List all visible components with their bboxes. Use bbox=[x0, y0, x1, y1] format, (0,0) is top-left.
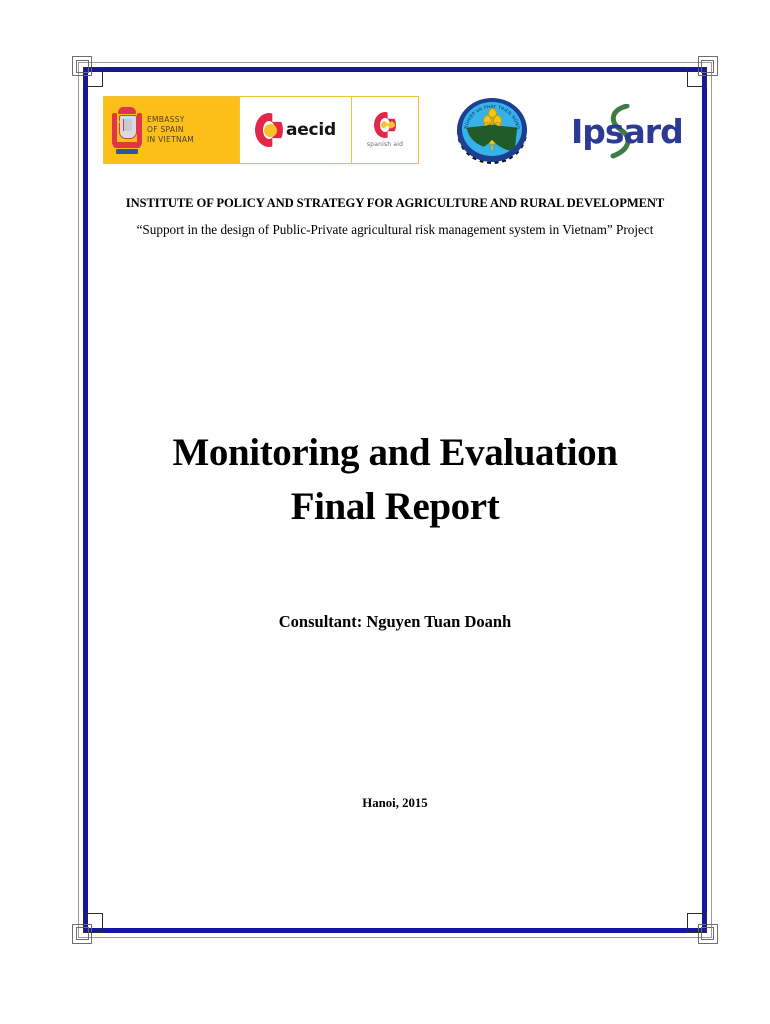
aecid-wordmark: aecid bbox=[286, 120, 336, 140]
spanish-aid-c-mark-icon bbox=[374, 112, 396, 138]
consultant-line: Consultant: Nguyen Tuan Doanh bbox=[90, 612, 700, 632]
mard-emblem: NONG NGHIEP VA PHAT TRIEN NONG THON bbox=[455, 94, 529, 166]
organization-line: INSTITUTE OF POLICY AND STRATEGY FOR AGR… bbox=[90, 196, 700, 211]
report-title-line-2: Final Report bbox=[90, 480, 700, 534]
page-frame: EMBASSY OF SPAIN IN VIETNAM aecid spanis… bbox=[78, 62, 712, 938]
project-title-line: “Support in the design of Public-Private… bbox=[90, 222, 700, 238]
spain-coat-of-arms-icon bbox=[112, 106, 142, 154]
embassy-logo-text: EMBASSY OF SPAIN IN VIETNAM bbox=[147, 115, 194, 145]
donor-logo-block: EMBASSY OF SPAIN IN VIETNAM aecid spanis… bbox=[103, 96, 419, 164]
ipsard-wordmark: Ipsard bbox=[571, 112, 683, 151]
ipsard-logo: Ipsard bbox=[571, 108, 699, 156]
embassy-of-spain-logo: EMBASSY OF SPAIN IN VIETNAM bbox=[104, 97, 239, 163]
place-year-line: Hanoi, 2015 bbox=[90, 796, 700, 811]
spanish-aid-caption: spanish aid bbox=[367, 141, 403, 148]
aecid-logo: aecid bbox=[239, 97, 351, 163]
aecid-c-mark-icon bbox=[255, 113, 283, 147]
svg-text:NONG NGHIEP VA PHAT TRIEN NONG: NONG NGHIEP VA PHAT TRIEN NONG THON bbox=[462, 100, 521, 131]
mard-arc-text: NONG NGHIEP VA PHAT TRIEN NONG THON bbox=[462, 100, 522, 158]
spanish-aid-logo: spanish aid bbox=[351, 97, 418, 163]
report-title-line-1: Monitoring and Evaluation bbox=[90, 426, 700, 480]
logo-band: EMBASSY OF SPAIN IN VIETNAM aecid spanis… bbox=[103, 96, 700, 164]
report-title: Monitoring and Evaluation Final Report bbox=[90, 426, 700, 534]
cover-page-content: EMBASSY OF SPAIN IN VIETNAM aecid spanis… bbox=[90, 74, 700, 926]
